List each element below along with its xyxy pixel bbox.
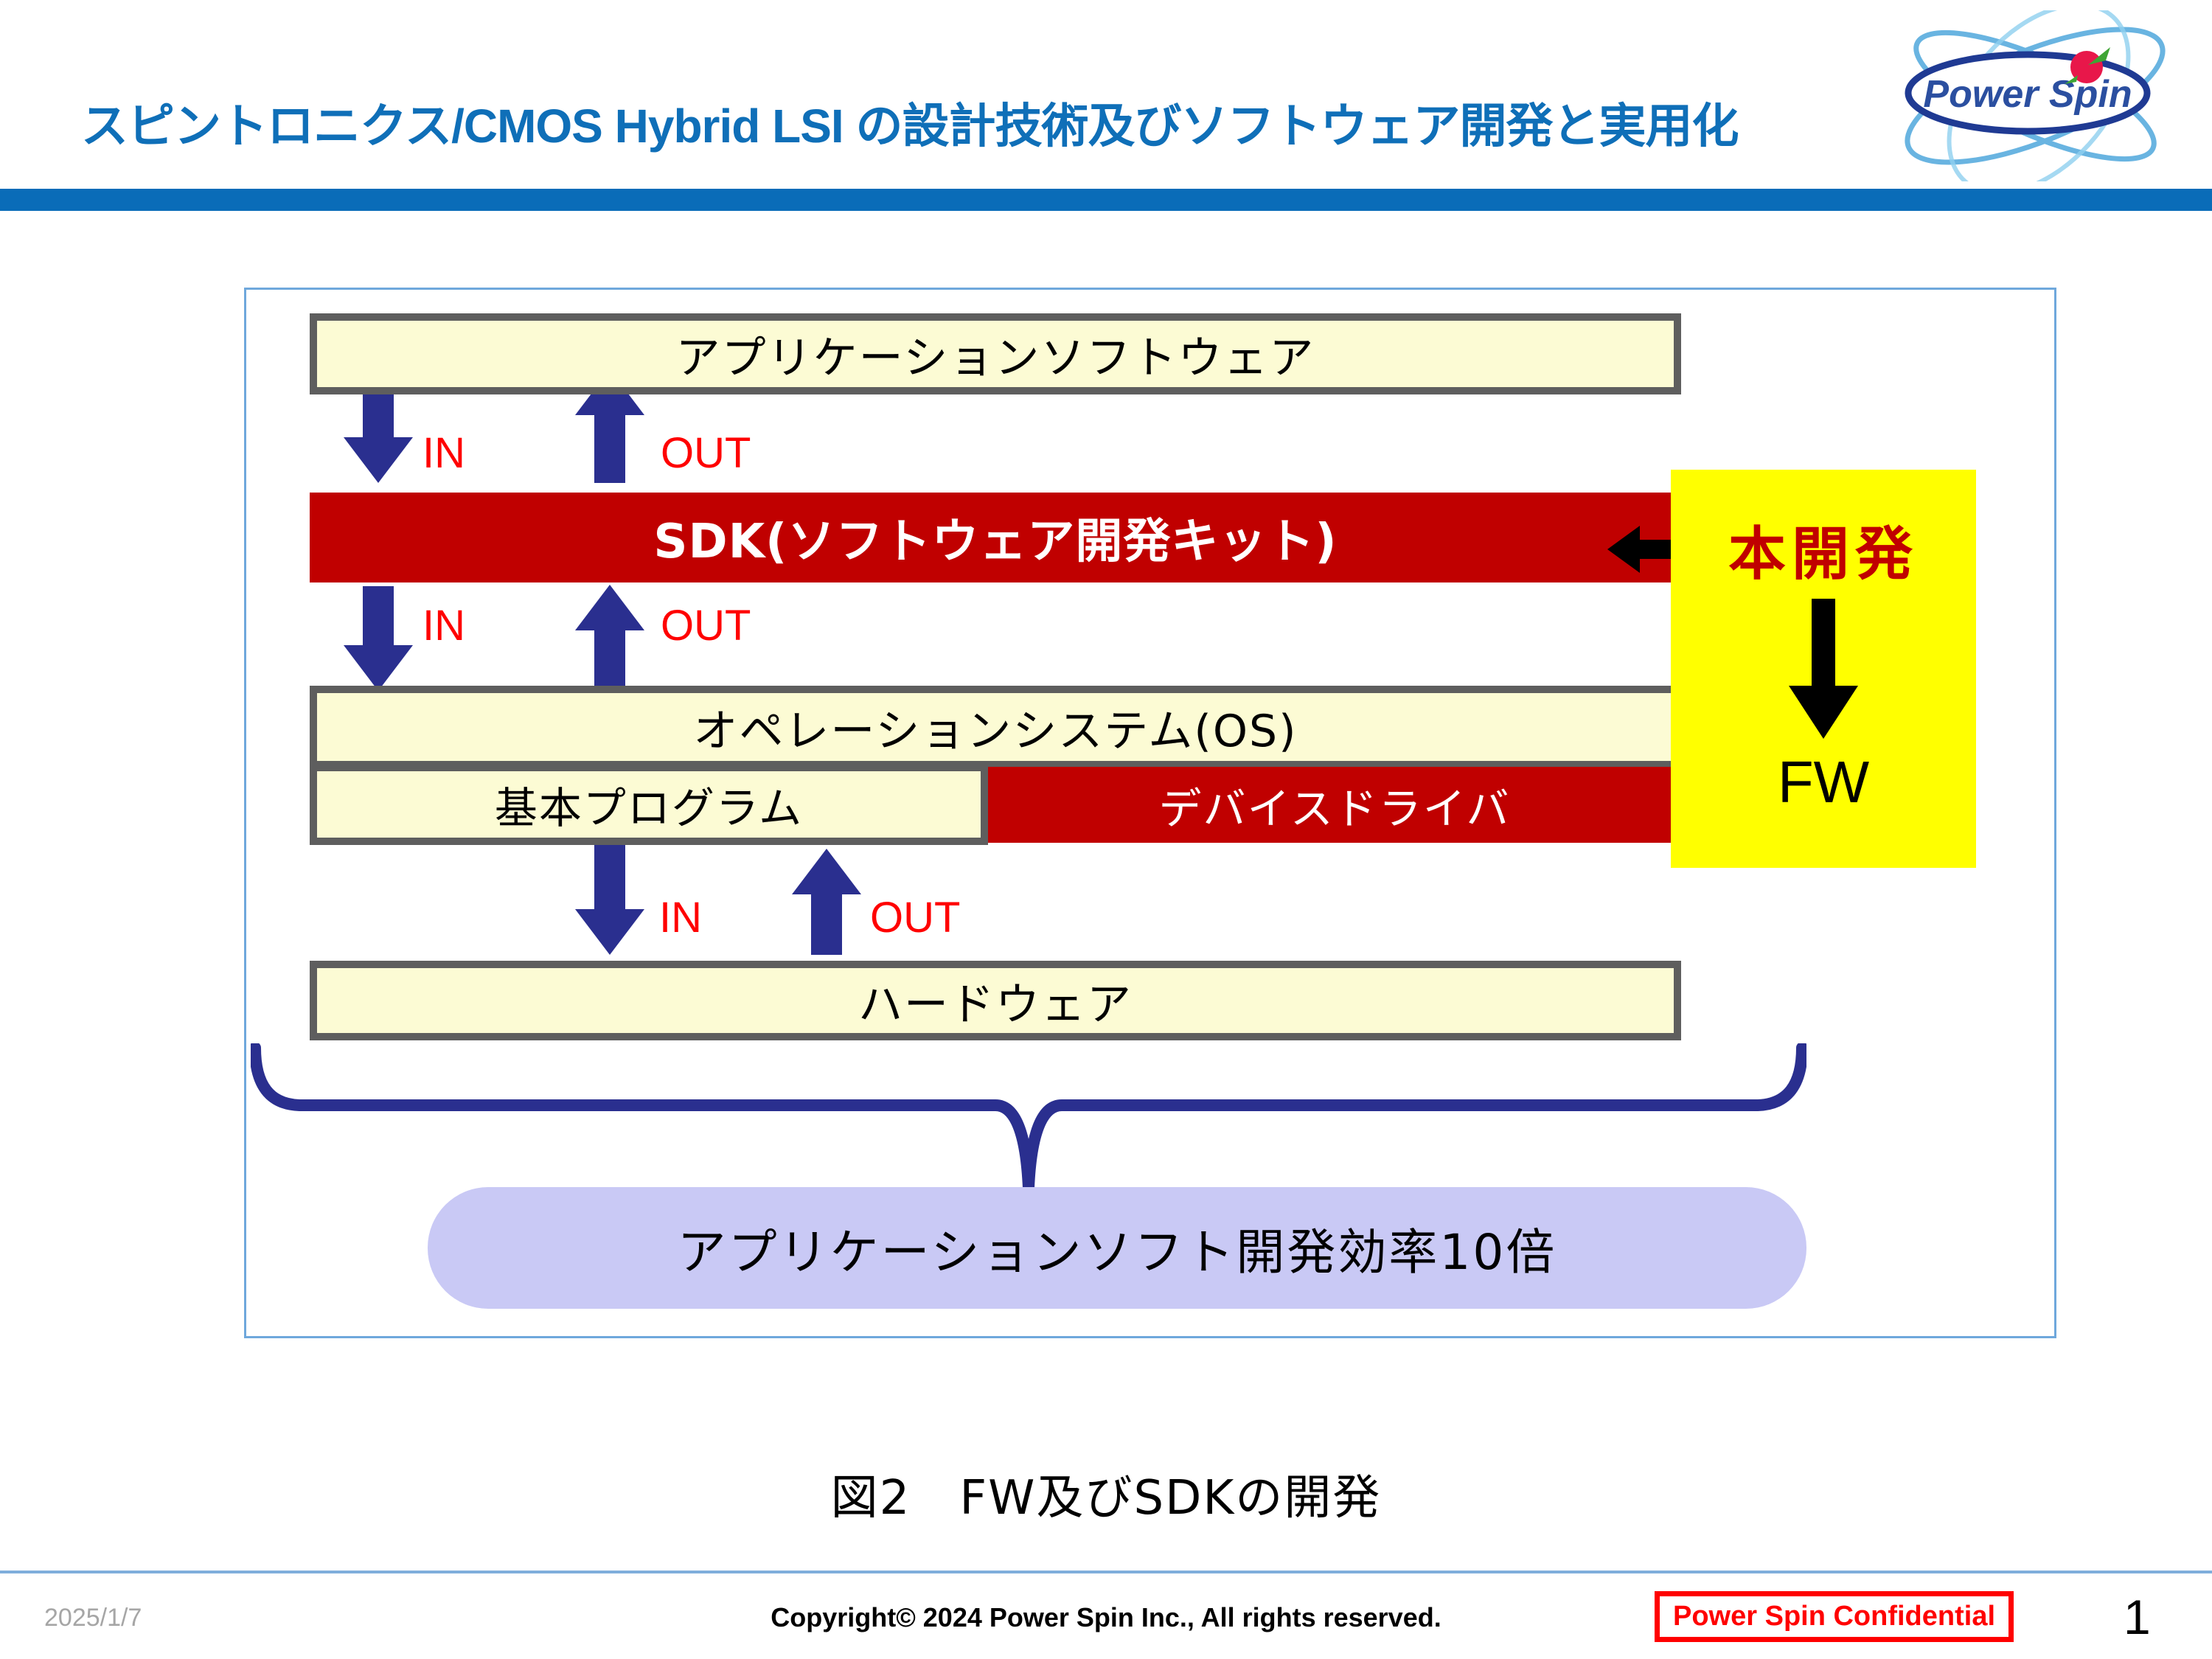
power-spin-logo: Power Spin: [1888, 10, 2183, 181]
page-title: スピントロニクス/CMOS Hybrid LSI の設計技術及びソフトウェア開発…: [81, 88, 1738, 156]
flow-label-out-os-sdk: OUT: [661, 601, 751, 650]
stack-box-basic-program[interactable]: 基本プログラム: [310, 764, 988, 845]
header-divider: [0, 189, 2212, 211]
stack-box-sdk[interactable]: SDK(ソフトウェア開発キット): [310, 493, 1681, 582]
stack-box-device-driver[interactable]: デバイスドライバ: [988, 767, 1681, 843]
callout-main-development[interactable]: 本開発 FW: [1671, 470, 1976, 868]
status-badge: Power Spin Confidential: [1655, 1591, 2014, 1642]
flow-label-in-sdk-os: IN: [422, 601, 465, 650]
flow-label-out-sdk-app: OUT: [661, 428, 751, 478]
flow-label-in-app-sdk: IN: [422, 428, 465, 478]
flow-label-in-os-hw: IN: [659, 893, 702, 942]
stack-box-os[interactable]: オペレーションシステム(OS): [310, 686, 1681, 768]
arrow-down-icon: [1781, 599, 1865, 742]
callout-title: 本開発: [1671, 508, 1976, 591]
logo-text: Power Spin: [1923, 73, 2132, 116]
stack-box-application[interactable]: アプリケーションソフトウェア: [310, 313, 1681, 394]
arrow-os-to-sdk-out: [575, 585, 644, 691]
flow-label-out-hw-os: OUT: [870, 893, 960, 942]
slide-header: スピントロニクス/CMOS Hybrid LSI の設計技術及びソフトウェア開発…: [0, 0, 2212, 214]
arrow-os-to-hw-in: [575, 844, 644, 955]
result-pill[interactable]: アプリケーションソフト開発効率10倍: [428, 1187, 1806, 1309]
brace-bottom: [251, 1043, 1806, 1194]
stack-box-hardware[interactable]: ハードウェア: [310, 961, 1681, 1040]
arrow-hw-to-os-out: [792, 849, 861, 955]
page-number: 1: [2124, 1589, 2151, 1645]
footer-divider: [0, 1571, 2212, 1573]
arrow-sdk-to-os-in: [344, 586, 413, 691]
figure-caption: 図2 FW及びSDKの開発: [0, 1460, 2212, 1528]
callout-fw-label: FW: [1671, 748, 1976, 816]
